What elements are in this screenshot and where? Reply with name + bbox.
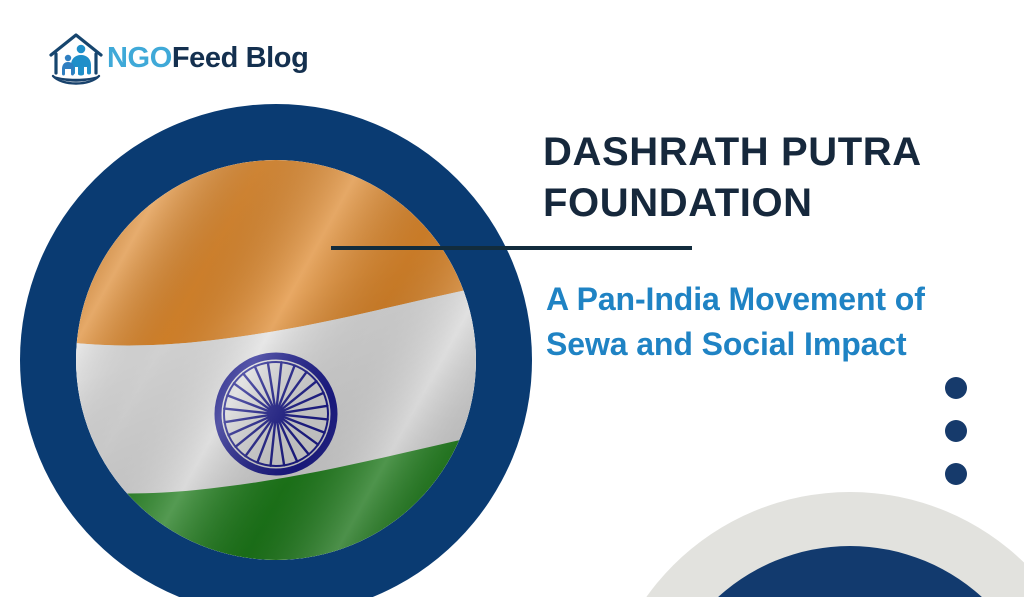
logo-text-feedblog: Feed Blog [172,42,309,74]
dot-icon [945,420,967,442]
page-subtitle: A Pan-India Movement of Sewa and Social … [546,277,966,368]
banner-root: NGOFeed Blog [0,0,1024,597]
title-divider [331,246,692,250]
decorative-dots [945,377,967,485]
india-flag-image [76,160,476,560]
dot-icon [945,463,967,485]
page-title: DASHRATH PUTRA FOUNDATION [543,127,973,229]
india-flag-svg [76,160,476,560]
dot-icon [945,377,967,399]
india-flag-circle-ring [20,104,532,597]
site-logo[interactable]: NGOFeed Blog [45,28,308,88]
logo-wordmark: NGOFeed Blog [107,44,308,73]
ngofeed-house-people-logo-icon [45,28,107,88]
logo-text-ngo: NGO [107,42,172,74]
